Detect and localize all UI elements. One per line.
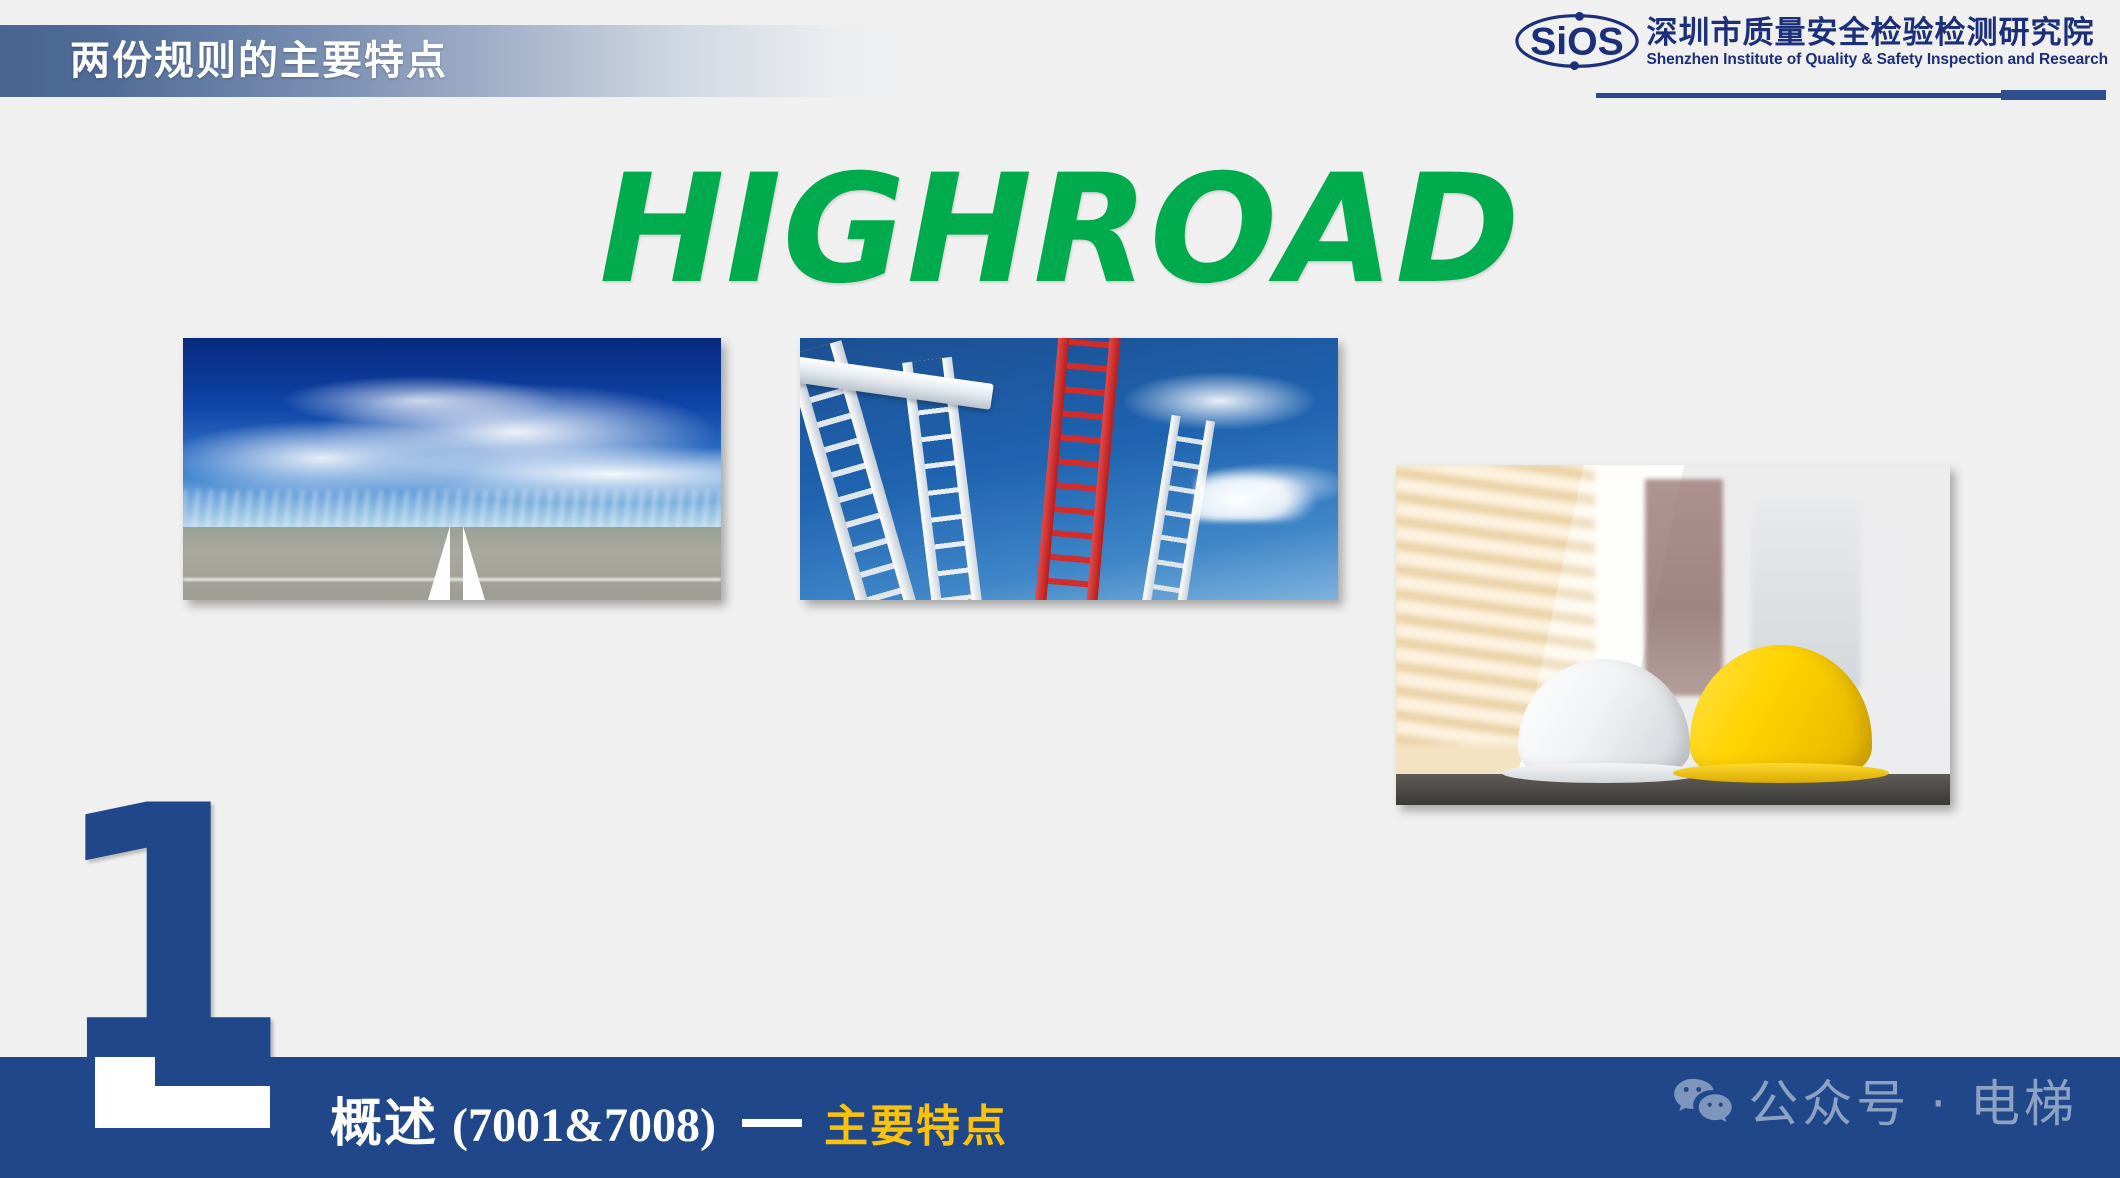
road-center-line-left <box>428 526 450 600</box>
footer-section-title: 概述 <box>330 1081 438 1156</box>
white-hat-dome <box>1518 659 1690 775</box>
logo-name-en: Shenzhen Institute of Quality & Safety I… <box>1647 50 2108 69</box>
organization-logo: SiOS 深圳市质量安全检验检测研究院 Shenzhen Institute o… <box>1513 10 2108 72</box>
numeral-base-block <box>95 1086 270 1128</box>
ladders-photo <box>800 338 1338 600</box>
road-surface-layer <box>183 527 721 600</box>
footer-section-code: (7001&7008) <box>452 1098 716 1153</box>
main-headline: HIGHROAD <box>0 155 2120 305</box>
white-hard-hat <box>1518 659 1690 775</box>
yellow-hat-dome <box>1690 645 1873 774</box>
safety-helmets-photo <box>1396 465 1950 805</box>
yellow-hard-hat <box>1690 645 1873 774</box>
footer-caption: 概述 (7001&7008) 主要特点 <box>330 1081 1008 1156</box>
page-title: 两份规则的主要特点 <box>70 32 448 90</box>
ladder-cloud <box>1196 469 1316 521</box>
wechat-watermark: 公众号 · 电梯 <box>1672 1064 2078 1136</box>
wechat-watermark-label: 公众号 · 电梯 <box>1748 1064 2078 1136</box>
logo-underline-accent <box>2001 90 2106 100</box>
footer-separator-dash <box>742 1119 802 1127</box>
sios-logo-icon: SiOS <box>1513 10 1641 72</box>
highway-road-photo <box>183 338 721 600</box>
footer-highlight-label: 主要特点 <box>824 1090 1008 1154</box>
road-center-line-right <box>463 526 485 600</box>
svg-text:SiOS: SiOS <box>1530 19 1624 63</box>
slide-canvas: 两份规则的主要特点 SiOS 深圳市质量安全检验检测研究院 Shenzhen I… <box>0 0 2120 1178</box>
section-number: 1 <box>40 790 300 1090</box>
wechat-icon <box>1672 1077 1734 1123</box>
logo-name-cn: 深圳市质量安全检验检测研究院 <box>1647 16 2108 50</box>
road-edge-line <box>183 578 721 581</box>
